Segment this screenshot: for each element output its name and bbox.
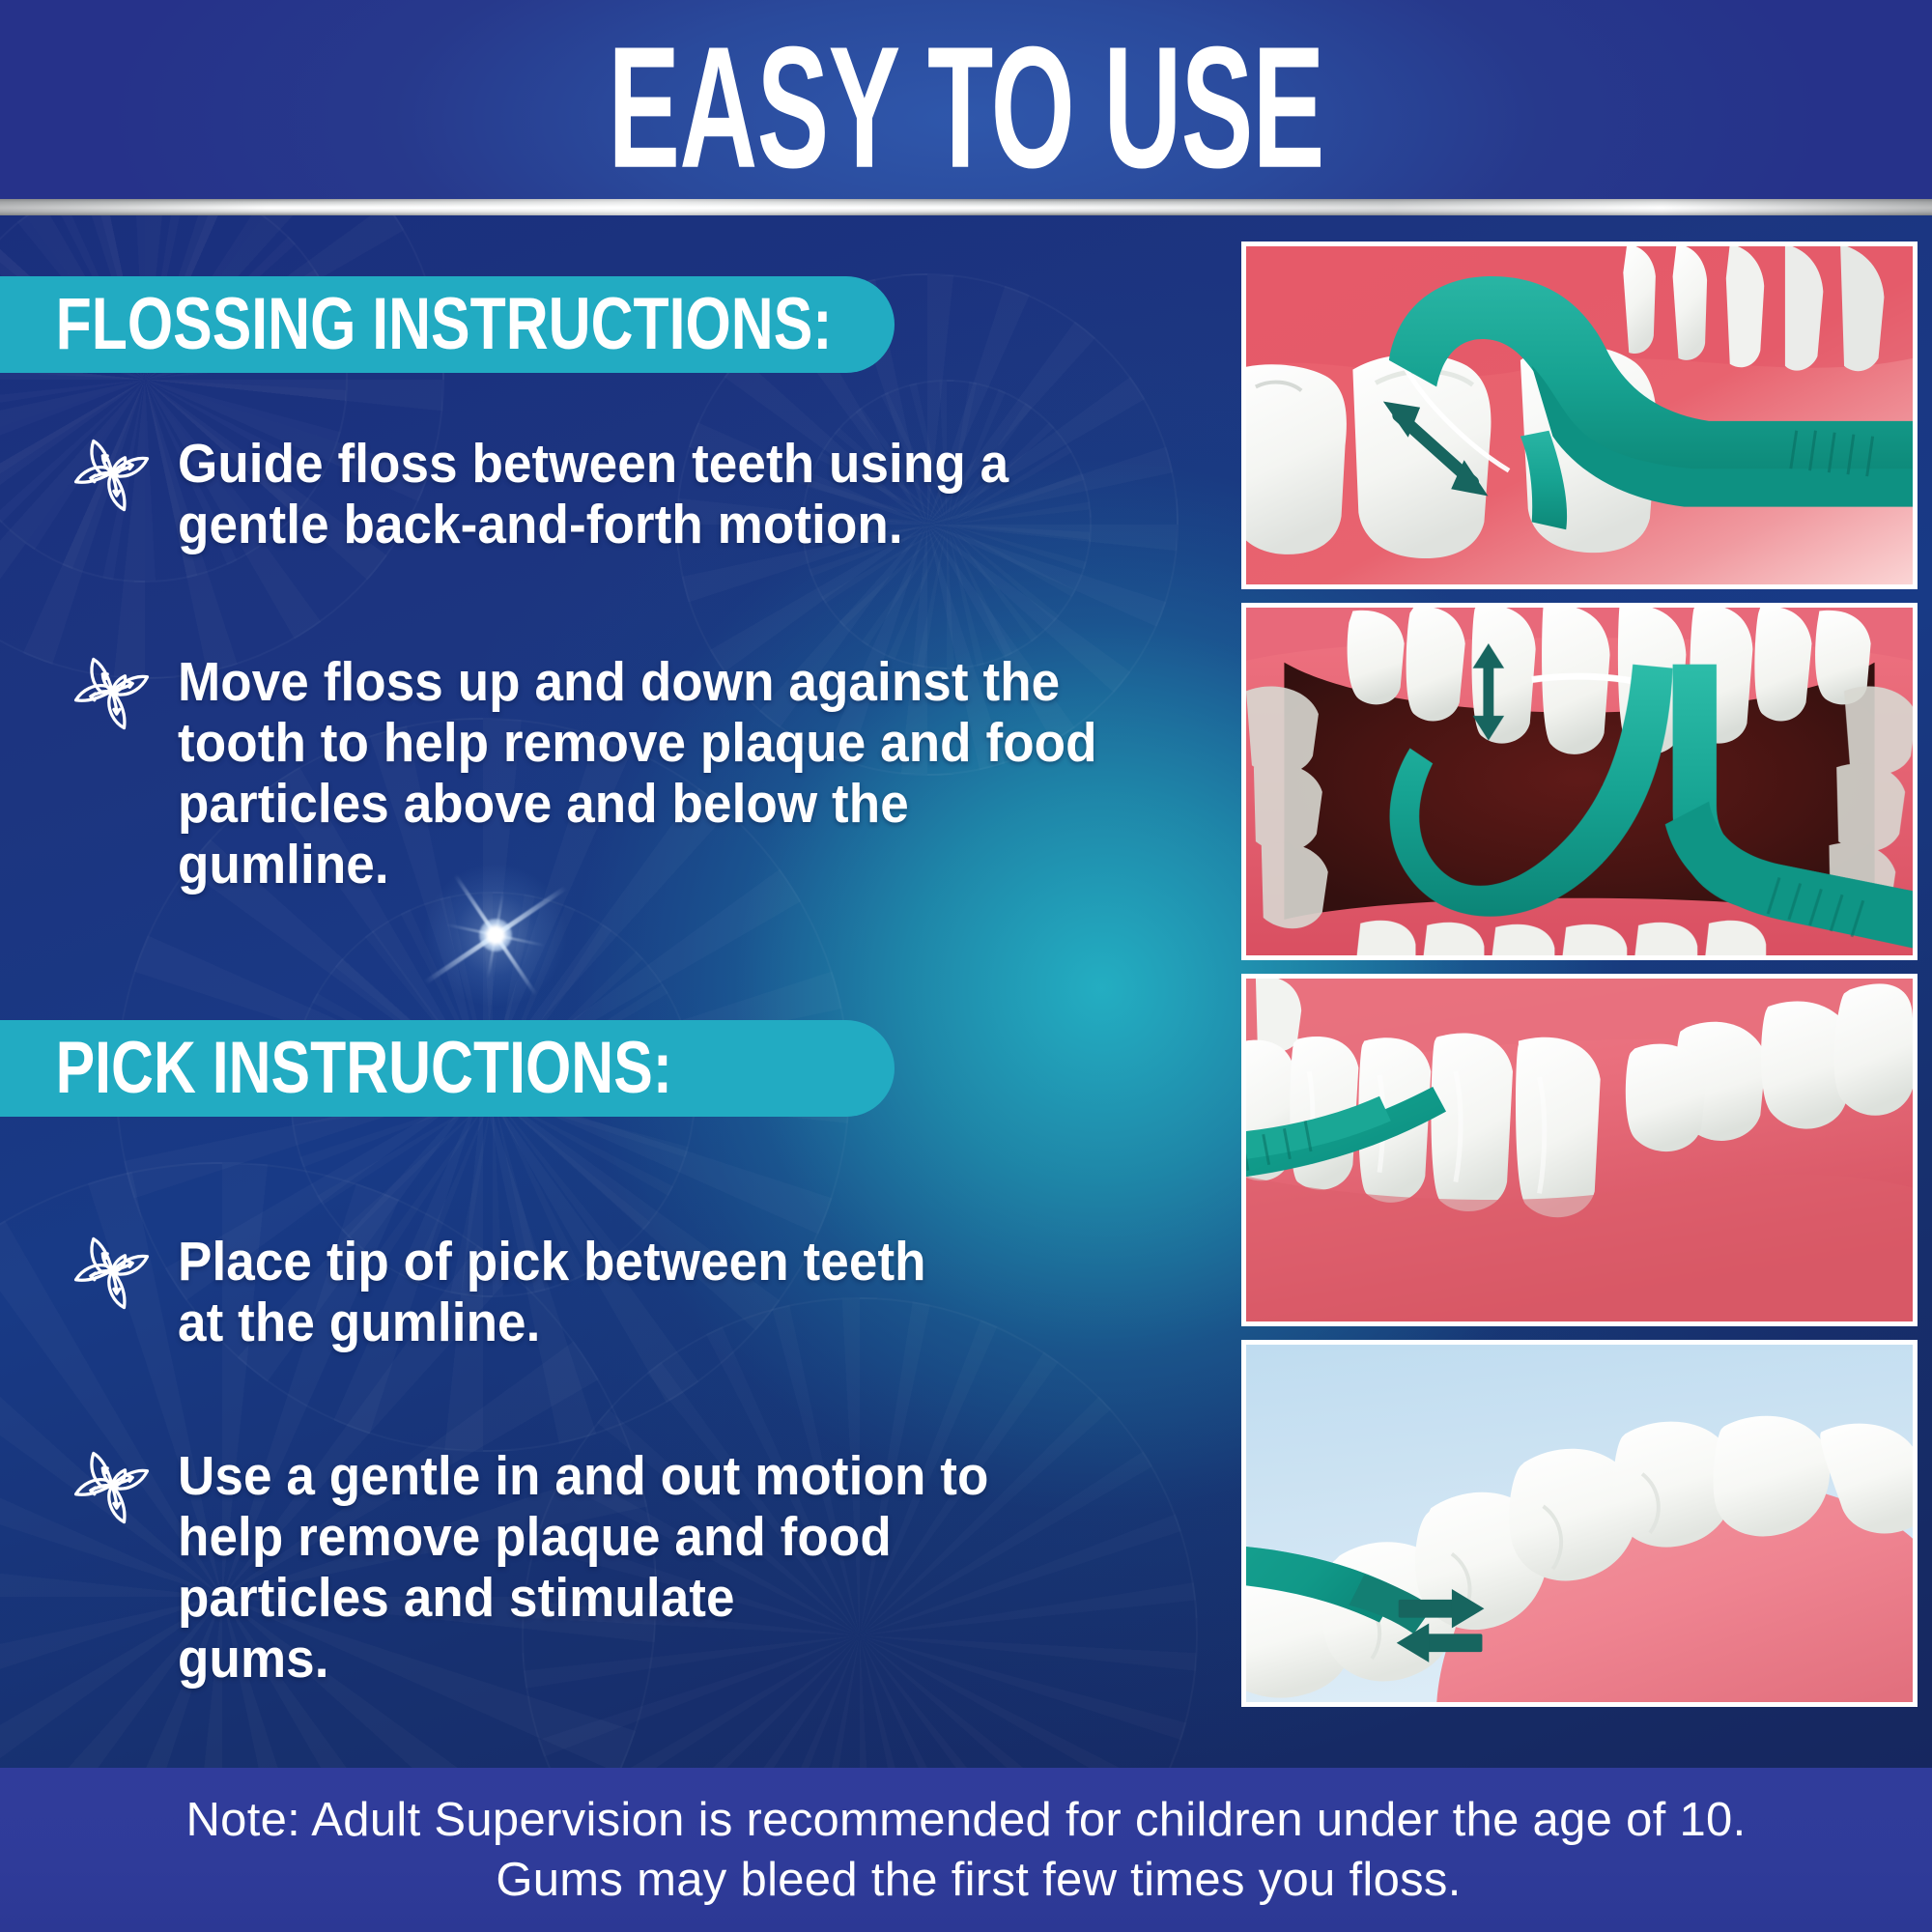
panel-pick-in-and-out-top-view <box>1241 1340 1918 1707</box>
list-item: Use a gentle in and out motion to help r… <box>66 1442 1186 1690</box>
pick-at-gumline-illustration <box>1246 979 1913 1321</box>
list-item-label: Place tip of pick between teeth at the g… <box>178 1228 926 1353</box>
mint-leaf-icon <box>66 648 158 741</box>
silver-divider-sheen <box>0 199 1932 215</box>
pick-in-out-top-view-illustration <box>1246 1345 1913 1702</box>
list-item: Move floss up and down against the tooth… <box>66 648 1215 895</box>
panel-open-mouth-front-teeth-floss <box>1241 603 1918 960</box>
section-header-pick-label: PICK INSTRUCTIONS: <box>0 1031 672 1106</box>
open-mouth-floss-illustration <box>1246 608 1913 955</box>
list-item: Place tip of pick between teeth at the g… <box>66 1228 1157 1353</box>
list-item-label: Use a gentle in and out motion to help r… <box>178 1442 988 1690</box>
section-header-flossing-label: FLOSSING INSTRUCTIONS: <box>0 287 833 362</box>
list-item: Guide floss between teeth using a gentle… <box>66 430 1186 555</box>
floss-between-teeth-illustration <box>1246 246 1913 584</box>
mint-leaf-icon <box>66 1442 158 1535</box>
mint-leaf-icon <box>66 430 158 523</box>
list-item-label: Move floss up and down against the tooth… <box>178 648 1097 895</box>
footer-note-line-1: Note: Adult Supervision is recommended f… <box>185 1790 1746 1850</box>
list-item-label: Guide floss between teeth using a gentle… <box>178 430 1009 555</box>
infographic-poster: EASY TO USE FLOSSING INSTRUCTIONS: <box>0 0 1932 1932</box>
instructions-column: FLOSSING INSTRUCTIONS: <box>0 215 1227 1768</box>
panel-pick-at-gumline-side-view <box>1241 974 1918 1326</box>
footer-note: Note: Adult Supervision is recommended f… <box>0 1768 1932 1932</box>
header-banner: EASY TO USE <box>0 0 1932 205</box>
panel-floss-between-teeth-closeup <box>1241 241 1918 589</box>
section-header-flossing: FLOSSING INSTRUCTIONS: <box>0 276 895 373</box>
illustration-panels <box>1241 241 1918 1707</box>
mint-leaf-icon <box>66 1228 158 1321</box>
footer-note-line-2: Gums may bleed the first few times you f… <box>470 1850 1461 1910</box>
section-header-pick: PICK INSTRUCTIONS: <box>0 1020 895 1117</box>
page-title: EASY TO USE <box>290 15 1642 199</box>
